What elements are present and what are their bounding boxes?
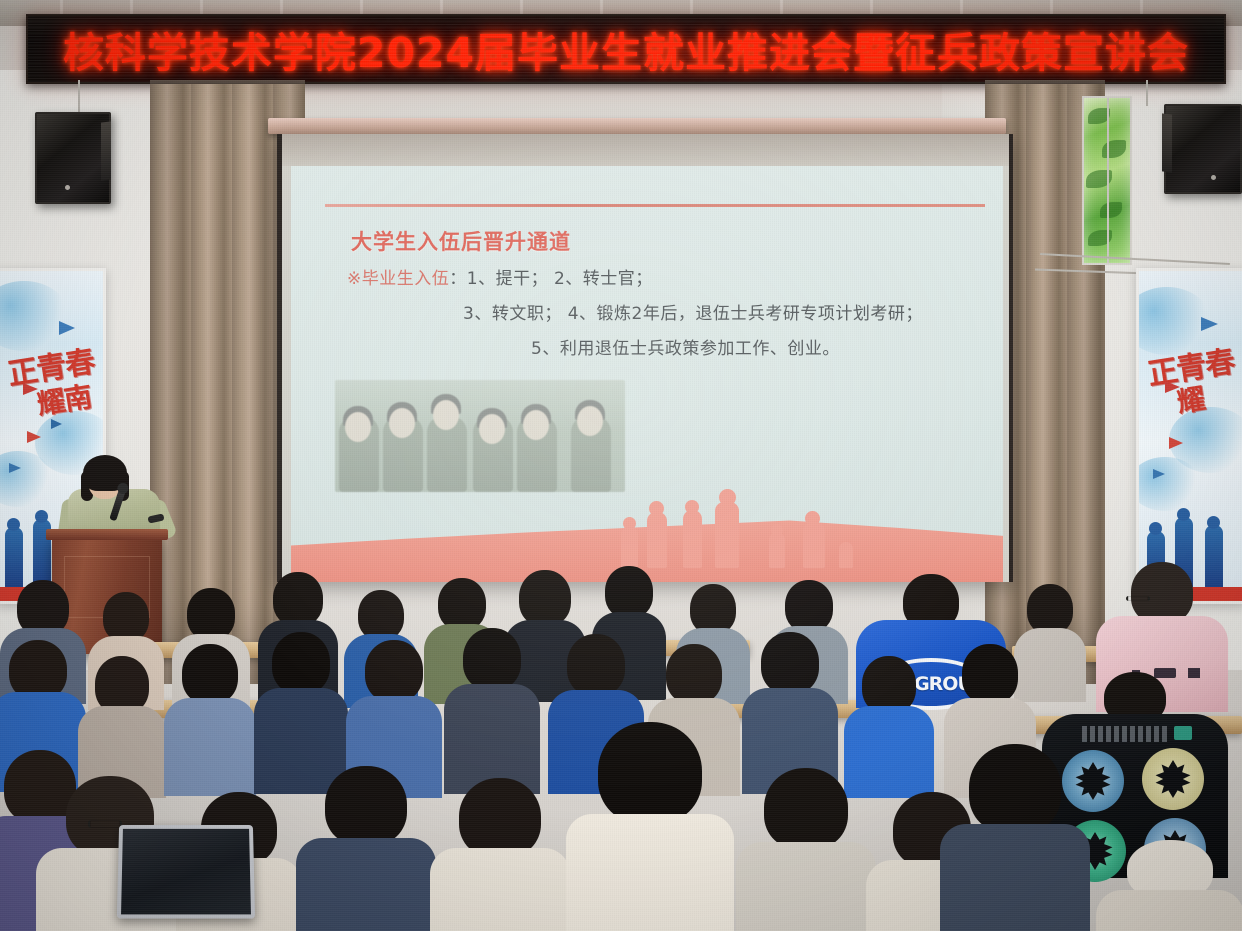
audience-person	[444, 628, 540, 792]
tablet-device[interactable]	[117, 825, 255, 919]
audience-person	[164, 644, 256, 794]
slide-body-line-3: 5、利用退伍士兵政策参加工作、创业。	[531, 334, 840, 359]
aztec-medallion	[1142, 748, 1204, 810]
aztec-shirt-patch	[1174, 726, 1192, 740]
aztec-shirt-collar-text	[1082, 726, 1168, 742]
wall-speaker-right	[1164, 104, 1242, 194]
slide-group-photo	[335, 380, 625, 492]
projection-screen: 大学生入伍后晋升通道 ※毕业生入伍：1、提干； 2、转士官； 3、转文职； 4、…	[277, 134, 1013, 582]
slide-title: 大学生入伍后晋升通道	[351, 226, 571, 256]
poster-left-line-2: 耀南	[34, 375, 94, 423]
audience-person	[736, 768, 876, 931]
led-marquee-banner: 核科学技术学院2024届毕业生就业推进会暨征兵政策宣讲会	[26, 14, 1226, 84]
wall-speaker-left	[35, 112, 111, 204]
presentation-slide: 大学生入伍后晋升通道 ※毕业生入伍：1、提干； 2、转士官； 3、转文职； 4、…	[291, 166, 1003, 582]
projector-screen-housing	[268, 118, 1006, 134]
audience-person	[566, 722, 734, 931]
slide-divider-rule	[325, 204, 985, 207]
audience-person	[940, 744, 1090, 931]
screen-blank-area	[282, 134, 1009, 166]
audience-person	[430, 778, 570, 931]
wall-cable-left	[78, 80, 80, 114]
slide-line-1-rest: ：1、提干； 2、转士官；	[449, 269, 653, 289]
audience-person	[296, 766, 436, 931]
wall-cable-right-1	[1146, 80, 1148, 106]
window-with-foliage	[1082, 96, 1132, 265]
led-banner-text: 核科学技术学院2024届毕业生就业推进会暨征兵政策宣讲会	[28, 19, 1224, 79]
slide-line-1-highlight: ※毕业生入伍	[347, 269, 449, 289]
eyeglasses	[1126, 596, 1150, 601]
slide-body-line-1: ※毕业生入伍：1、提干； 2、转士官；	[347, 264, 653, 289]
slide-body-line-2: 3、转文职； 4、锻炼2年后，退伍士兵考研专项计划考研；	[463, 299, 923, 324]
lecture-hall-photo: 核科学技术学院2024届毕业生就业推进会暨征兵政策宣讲会 大学生入伍后晋升通道	[0, 0, 1242, 931]
audience-person	[1096, 840, 1242, 931]
eyeglasses	[88, 820, 122, 828]
